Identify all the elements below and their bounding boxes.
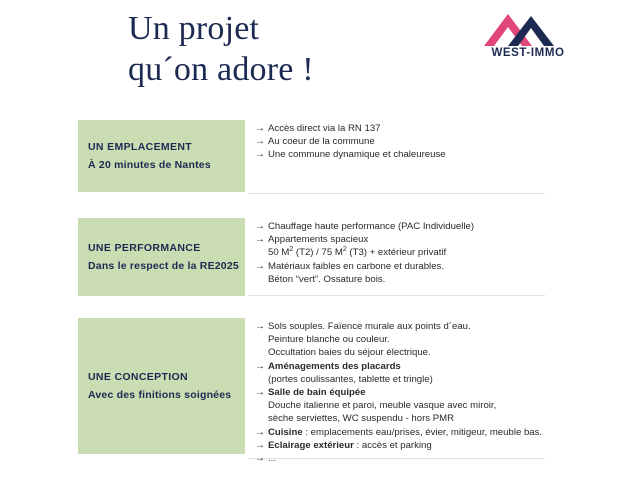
section-tag-title: UNE PERFORMANCE <box>88 240 245 256</box>
list-item-text: Sols souples. Faïence murale aux points … <box>268 320 605 333</box>
list-item-label: Cuisine <box>268 427 303 438</box>
section-tag-title: UN EMPLACEMENT <box>88 139 245 155</box>
section-performance: UNE PERFORMANCE Dans le respect de la RE… <box>0 218 640 298</box>
list-item-subtext: 50 M2 (T2) / 75 M2 (T3) + extérieur priv… <box>268 246 605 259</box>
list-item-text: Chauffage haute performance (PAC Individ… <box>268 220 605 233</box>
arrow-icon: → <box>255 426 265 439</box>
list-item: → Sols souples. Faïence murale aux point… <box>255 320 605 360</box>
arrow-icon: → <box>255 452 265 465</box>
arrow-icon: → <box>255 233 265 246</box>
list-item-subtext-2: sèche serviettes, WC suspendu - hors PMR <box>268 412 605 425</box>
page-title-line-1: Un projet <box>128 8 468 49</box>
list-item-subtext: (portes coulissantes, tablette et tringl… <box>268 373 605 386</box>
list-item: → Une commune dynamique et chaleureuse <box>255 148 605 161</box>
arrow-icon: → <box>255 122 265 135</box>
logo-wordmark: WEST-IMMO <box>476 47 580 59</box>
list-item-subtext: Béton “vert”. Ossature bois. <box>268 273 605 286</box>
page-title-line-2: qu´on adore ! <box>128 49 468 90</box>
section-tag-box: UN EMPLACEMENT À 20 minutes de Nantes <box>78 120 245 192</box>
list-item: → Appartements spacieux 50 M2 (T2) / 75 … <box>255 233 605 259</box>
west-immo-logo: WEST-IMMO <box>476 10 580 64</box>
arrow-icon: → <box>255 360 265 373</box>
section-tag-subtitle: À 20 minutes de Nantes <box>88 157 245 173</box>
arrow-icon: → <box>255 260 265 273</box>
section-tag-subtitle: Avec des finitions soignées <box>88 387 245 403</box>
list-item: → Au coeur de la commune <box>255 135 605 148</box>
list-item-text: Au coeur de la commune <box>268 135 605 148</box>
section-tag-title: UNE CONCEPTION <box>88 369 245 385</box>
list-item: → Aménagements des placards (portes coul… <box>255 360 605 386</box>
section-bullet-list: → Sols souples. Faïence murale aux point… <box>255 320 605 465</box>
brochure-page: Un projet qu´on adore ! WEST-IMMO UN EMP… <box>0 0 640 480</box>
list-item-subtext: Douche italienne et paroi, meuble vasque… <box>268 399 605 412</box>
arrow-icon: → <box>255 148 265 161</box>
list-item-text: Appartements spacieux <box>268 233 605 246</box>
arrow-icon: → <box>255 135 265 148</box>
list-item: → ... <box>255 452 605 465</box>
list-item-text: Une commune dynamique et chaleureuse <box>268 148 605 161</box>
arrow-icon: → <box>255 220 265 233</box>
list-item: → Salle de bain équipée Douche italienne… <box>255 386 605 426</box>
section-bullet-list: → Chauffage haute performance (PAC Indiv… <box>255 220 605 286</box>
page-header: Un projet qu´on adore ! WEST-IMMO <box>0 0 640 110</box>
arrow-icon: → <box>255 320 265 333</box>
list-item-subtext-2: Occultation baies du séjour électrique. <box>268 346 605 359</box>
page-title: Un projet qu´on adore ! <box>128 8 468 90</box>
list-item: → Eclairage extérieur : accès et parking <box>255 439 605 452</box>
list-item: → Matériaux faibles en carbone et durabl… <box>255 260 605 286</box>
list-item-text: : accès et parking <box>354 440 432 451</box>
list-item: → Accès direct via la RN 137 <box>255 122 605 135</box>
arrow-icon: → <box>255 386 265 399</box>
list-item-text: Accès direct via la RN 137 <box>268 122 605 135</box>
list-item: → Chauffage haute performance (PAC Indiv… <box>255 220 605 233</box>
list-item-subtext: Peinture blanche ou couleur. <box>268 333 605 346</box>
list-item-text: Matériaux faibles en carbone et durables… <box>268 260 605 273</box>
list-item-text: Aménagements des placards <box>268 360 605 373</box>
section-emplacement: UN EMPLACEMENT À 20 minutes de Nantes → … <box>0 120 640 195</box>
list-item: → Cuisine : emplacements eau/prises, évi… <box>255 426 605 439</box>
list-item-text: ... <box>268 452 605 465</box>
roof-logo-icon <box>476 10 580 48</box>
arrow-icon: → <box>255 439 265 452</box>
section-tag-box: UNE PERFORMANCE Dans le respect de la RE… <box>78 218 245 296</box>
list-item-text: Salle de bain équipée <box>268 386 605 399</box>
section-bullet-list: → Accès direct via la RN 137 → Au coeur … <box>255 122 605 162</box>
section-tag-box: UNE CONCEPTION Avec des finitions soigné… <box>78 318 245 454</box>
list-item-text: : emplacements eau/prises, évier, mitige… <box>303 427 542 438</box>
section-conception: UNE CONCEPTION Avec des finitions soigné… <box>0 318 640 458</box>
list-item-label: Eclairage extérieur <box>268 440 354 451</box>
section-tag-subtitle: Dans le respect de la RE2025 <box>88 258 245 274</box>
